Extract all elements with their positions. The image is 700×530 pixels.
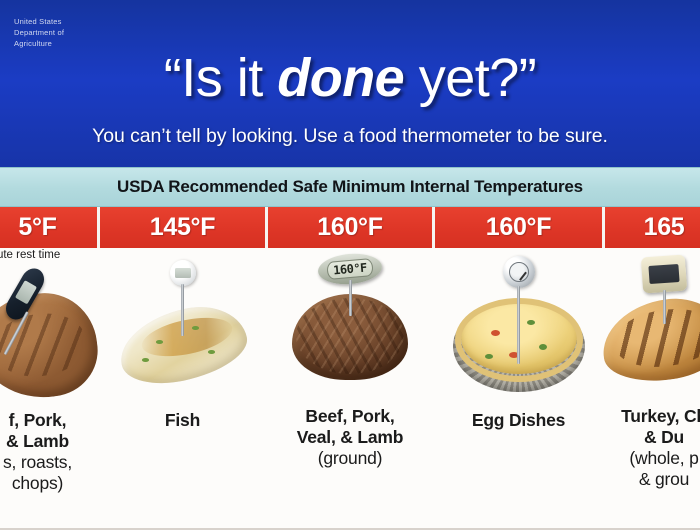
usda-logo-line-1: United States	[14, 16, 64, 27]
herb-flake	[156, 340, 163, 344]
temperature-cell-4: 160°F	[435, 207, 602, 248]
temperature-value-2: 145°F	[150, 213, 215, 242]
thermometer-screen	[175, 268, 191, 278]
column-label-ground-beef: Beef, Pork, Veal, & Lamb (ground)	[268, 406, 432, 469]
headline-emphasis: done	[277, 48, 404, 108]
herb-flake	[142, 358, 149, 362]
veg-piece	[539, 344, 547, 350]
label-line-1: Beef, Pork,	[305, 406, 394, 426]
thermometer-dial-face	[509, 262, 529, 282]
column-beef-pork-veal-lamb: inute rest time f, Pork, & Lamb s, roast…	[0, 248, 97, 528]
label-line-2: Veal, & Lamb	[297, 427, 404, 447]
food-art-fish	[100, 254, 265, 404]
thermometer-probe	[349, 280, 352, 316]
thermometer-digital-square	[641, 255, 687, 294]
label-line-2: & Lamb	[6, 431, 69, 451]
column-label-poultry: Turkey, Ch & Du (whole, p & grou	[605, 406, 700, 490]
label-sub-line-1: (whole, p	[605, 448, 700, 469]
column-label-egg-dishes: Egg Dishes	[435, 410, 602, 431]
column-ground-beef: 160°F Beef, Pork, Veal, & Lamb (ground)	[268, 248, 432, 528]
label-sub-line-1: (ground)	[268, 448, 432, 469]
veg-piece	[485, 354, 493, 359]
herb-flake	[208, 350, 215, 354]
food-art-steak	[0, 262, 97, 412]
label-line-1: Turkey, Ch	[621, 406, 700, 426]
rest-time-note: inute rest time	[0, 248, 107, 262]
headline-suffix: yet?”	[404, 48, 536, 108]
column-label-fish: Fish	[100, 410, 265, 431]
temperature-cell-2: 145°F	[100, 207, 265, 248]
temperature-value-3: 160°F	[317, 213, 382, 242]
thermometer-screen	[14, 280, 36, 304]
temperature-cell-1: 5°F	[0, 207, 97, 248]
banner-title: USDA Recommended Safe Minimum Internal T…	[117, 177, 583, 197]
temperature-bar: 5°F 145°F 160°F 160°F 165	[0, 207, 700, 248]
veg-piece	[527, 320, 535, 325]
food-art-quiche	[435, 252, 602, 402]
thermometer-digital-round-white	[170, 260, 196, 286]
label-sub-line-2: chops)	[0, 473, 97, 494]
temperature-value-5: 165	[644, 213, 685, 242]
thermometer-reading: 160°F	[326, 258, 373, 280]
usda-doneness-poster: United States Department of Agriculture …	[0, 0, 700, 530]
thermometer-needle	[519, 272, 526, 281]
poster-header: United States Department of Agriculture …	[0, 0, 700, 167]
food-art-chicken	[605, 252, 700, 402]
temperature-cell-3: 160°F	[268, 207, 432, 248]
recommendation-banner: USDA Recommended Safe Minimum Internal T…	[0, 167, 700, 207]
label-line-1: Egg Dishes	[472, 410, 565, 430]
food-art-ground-patty: 160°F	[268, 250, 432, 400]
temperature-value-1: 5°F	[18, 213, 56, 242]
usda-agency-logo: United States Department of Agriculture	[14, 16, 64, 49]
column-egg-dishes: Egg Dishes	[435, 248, 602, 528]
label-sub-line-2: & grou	[605, 469, 700, 490]
herb-flake	[192, 326, 199, 330]
page-subtitle: You can’t tell by looking. Use a food th…	[0, 124, 700, 148]
column-poultry: Turkey, Ch & Du (whole, p & grou	[605, 248, 700, 528]
thermometer-probe	[517, 286, 520, 364]
page-title: “Is it done yet?”	[0, 48, 700, 108]
label-line-1: Fish	[165, 410, 200, 430]
column-fish: Fish	[100, 248, 265, 528]
veg-piece	[491, 330, 500, 336]
label-sub-line-1: s, roasts,	[0, 452, 97, 473]
label-line-1: f, Pork,	[9, 410, 67, 430]
column-label-beef-pork-veal-lamb: f, Pork, & Lamb s, roasts, chops)	[0, 410, 97, 494]
temperature-value-4: 160°F	[486, 213, 551, 242]
thermometer-dial	[503, 256, 535, 288]
headline-prefix: “Is it	[164, 48, 278, 108]
thermometer-probe	[663, 290, 666, 324]
thermometer-screen	[648, 264, 679, 284]
temperature-cell-5: 165	[605, 207, 700, 248]
label-line-2: & Du	[644, 427, 684, 447]
usda-logo-line-2: Department of	[14, 27, 64, 38]
thermometer-probe	[181, 284, 184, 336]
